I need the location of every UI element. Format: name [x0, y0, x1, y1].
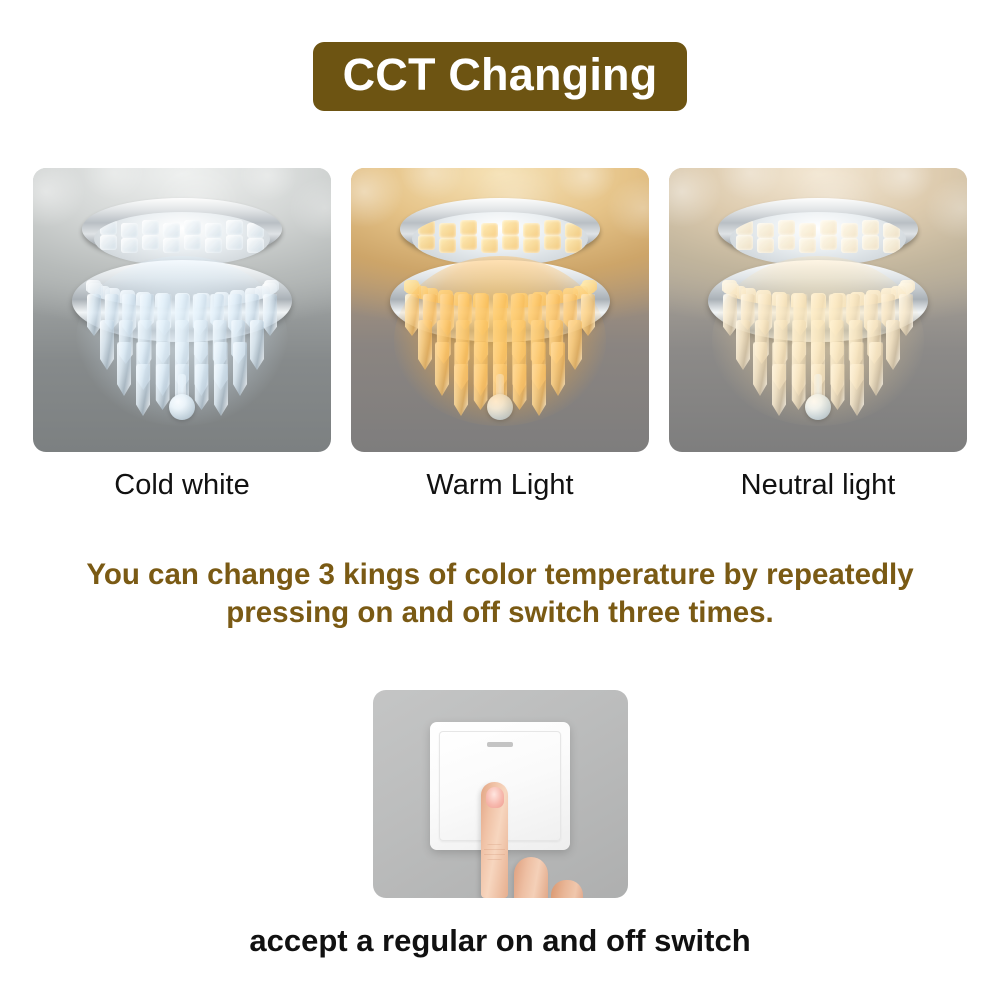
canopy-inner-crystals: [412, 212, 588, 266]
caption-row: Cold white Warm Light Neutral light: [33, 468, 967, 503]
canopy-crystal-cluster: [94, 216, 270, 266]
caption-cold-white: Cold white: [33, 468, 331, 503]
fingernail-icon: [486, 787, 504, 808]
description-text: You can change 3 kings of color temperat…: [30, 556, 970, 633]
crystal-chandelier-icon: [384, 198, 616, 428]
description-line-1: You can change 3 kings of color temperat…: [30, 556, 970, 594]
banner-title: CCT Changing: [343, 51, 658, 98]
canopy-inner-crystals: [730, 212, 906, 266]
switch-indicator-icon: [487, 742, 513, 747]
second-finger-icon: [514, 857, 548, 898]
product-card-neutral-light: [669, 168, 967, 452]
cct-changing-banner: CCT Changing: [313, 42, 688, 111]
crystal-chandelier-icon: [702, 198, 934, 428]
product-image-row: [33, 168, 967, 452]
pressing-finger-icon: [481, 782, 508, 898]
canopy-crystal-cluster: [730, 216, 906, 266]
crystal-drop-sphere: [805, 394, 831, 420]
description-line-2: pressing on and off switch three times.: [30, 594, 970, 632]
bottom-caption: accept a regular on and off switch: [0, 922, 1000, 959]
product-card-warm-light: [351, 168, 649, 452]
crystal-chandelier-icon: [66, 198, 298, 428]
wall-switch-photo: [373, 690, 628, 898]
banner-row: CCT Changing: [0, 42, 1000, 111]
crystal-drop-sphere: [487, 394, 513, 420]
canopy-crystal-cluster: [412, 216, 588, 266]
product-card-cold-white: [33, 168, 331, 452]
third-finger-icon: [551, 880, 583, 898]
caption-warm-light: Warm Light: [351, 468, 649, 503]
canopy-inner-crystals: [94, 212, 270, 266]
caption-neutral-light: Neutral light: [669, 468, 967, 503]
product-photo-cold-white: [33, 168, 331, 452]
crystal-drop-sphere: [169, 394, 195, 420]
product-photo-warm-light: [351, 168, 649, 452]
product-photo-neutral-light: [669, 168, 967, 452]
